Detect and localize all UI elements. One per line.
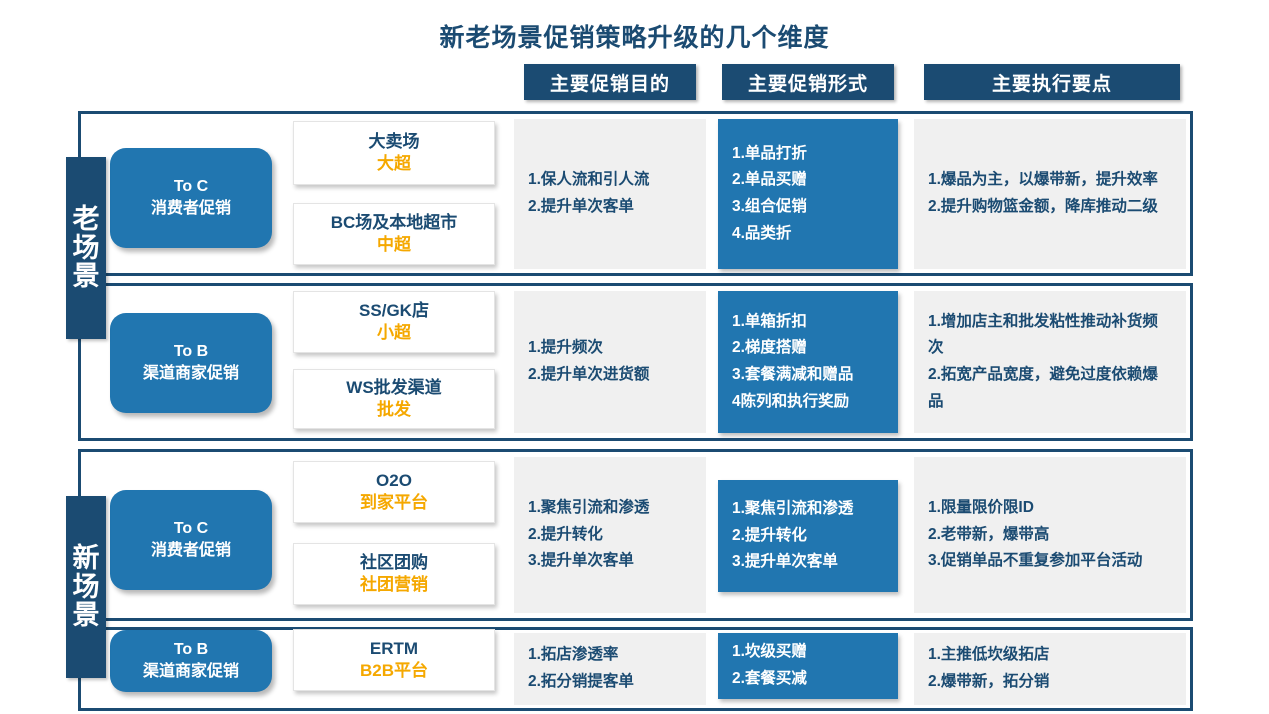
cell-line: 1.保人流和引人流 — [528, 167, 692, 194]
channel-title-3a: O2O — [376, 470, 412, 492]
segment-pill-row-1[interactable]: To C 消费者促销 — [110, 148, 272, 248]
scene-label-new-char-1: 场 — [73, 573, 100, 602]
channel-subtitle-1b: 中超 — [377, 234, 411, 256]
segment-pill-row-3[interactable]: To C 消费者促销 — [110, 490, 272, 590]
cell-line: 4陈列和执行奖励 — [732, 389, 884, 416]
segment-pill-row-4[interactable]: To B 渠道商家促销 — [110, 630, 272, 692]
cell-line: 3.提升单次客单 — [528, 548, 692, 575]
cell-form-row-1: 1.单品打折 2.单品买赠 3.组合促销 4.品类折 — [718, 119, 898, 269]
cell-line: 1.单箱折扣 — [732, 309, 884, 336]
channel-title-1a: 大卖场 — [369, 131, 420, 153]
cell-line: 2.爆带新，拓分销 — [928, 669, 1172, 696]
scene-label-old-char-1: 场 — [73, 234, 100, 263]
scene-label-new-char-2: 景 — [73, 601, 100, 630]
cell-line: 1.单品打折 — [732, 141, 884, 168]
column-header-purpose: 主要促销目的 — [524, 64, 696, 100]
cell-purpose-row-4: 1.拓店渗透率 2.拓分销提客单 — [514, 633, 706, 705]
cell-form-row-3: 1.聚焦引流和渗透 2.提升转化 3.提升单次客单 — [718, 480, 898, 592]
scene-label-old-char-2: 景 — [73, 262, 100, 291]
segment-cn-4: 渠道商家促销 — [143, 661, 239, 683]
scene-label-new: 新 场 景 — [66, 496, 106, 678]
channel-card-2a[interactable]: SS/GK店 小超 — [293, 291, 495, 353]
column-header-exec: 主要执行要点 — [924, 64, 1180, 100]
channel-card-4a[interactable]: ERTM B2B平台 — [293, 629, 495, 691]
cell-form-row-2: 1.单箱折扣 2.梯度搭赠 3.套餐满减和赠品 4陈列和执行奖励 — [718, 291, 898, 433]
cell-line: 1.限量限价限ID — [928, 495, 1172, 522]
cell-line: 1.聚焦引流和渗透 — [528, 495, 692, 522]
cell-line: 1.增加店主和批发粘性推动补货频次 — [928, 309, 1172, 362]
segment-en-4: To B — [174, 639, 208, 661]
cell-line: 2.提升购物篮金额，降库推动二级 — [928, 194, 1172, 221]
cell-exec-row-2: 1.增加店主和批发粘性推动补货频次 2.拓宽产品宽度，避免过度依赖爆品 — [914, 291, 1186, 433]
segment-en-3: To C — [174, 518, 208, 540]
cell-line: 2.提升转化 — [528, 522, 692, 549]
channel-card-1a[interactable]: 大卖场 大超 — [293, 121, 495, 185]
segment-cn-1: 消费者促销 — [151, 198, 231, 220]
channel-card-3b[interactable]: 社区团购 社团营销 — [293, 543, 495, 605]
cell-purpose-row-1: 1.保人流和引人流 2.提升单次客单 — [514, 119, 706, 269]
channel-card-3a[interactable]: O2O 到家平台 — [293, 461, 495, 523]
channel-subtitle-4a: B2B平台 — [360, 660, 428, 682]
scene-label-new-char-0: 新 — [73, 544, 100, 573]
cell-line: 2.提升单次进货额 — [528, 362, 692, 389]
cell-line: 2.拓宽产品宽度，避免过度依赖爆品 — [928, 362, 1172, 415]
segment-cn-2: 渠道商家促销 — [143, 363, 239, 385]
cell-line: 2.拓分销提客单 — [528, 669, 692, 696]
column-header-form: 主要促销形式 — [722, 64, 894, 100]
cell-line: 1.爆品为主，以爆带新，提升效率 — [928, 167, 1172, 194]
channel-subtitle-3b: 社团营销 — [360, 574, 428, 596]
channel-subtitle-3a: 到家平台 — [360, 492, 428, 514]
cell-exec-row-4: 1.主推低坎级拓店 2.爆带新，拓分销 — [914, 633, 1186, 705]
cell-line: 3.促销单品不重复参加平台活动 — [928, 548, 1172, 575]
channel-title-4a: ERTM — [370, 638, 418, 660]
cell-line: 2.提升转化 — [732, 523, 884, 550]
segment-en-1: To C — [174, 176, 208, 198]
channel-title-2a: SS/GK店 — [359, 300, 429, 322]
cell-line: 2.老带新，爆带高 — [928, 522, 1172, 549]
cell-exec-row-1: 1.爆品为主，以爆带新，提升效率 2.提升购物篮金额，降库推动二级 — [914, 119, 1186, 269]
cell-line: 2.提升单次客单 — [528, 194, 692, 221]
channel-subtitle-2b: 批发 — [377, 399, 411, 421]
cell-line: 3.套餐满减和赠品 — [732, 362, 884, 389]
cell-form-row-4: 1.坎级买赠 2.套餐买减 — [718, 633, 898, 699]
channel-subtitle-2a: 小超 — [377, 322, 411, 344]
cell-purpose-row-2: 1.提升频次 2.提升单次进货额 — [514, 291, 706, 433]
scene-label-old: 老 场 景 — [66, 157, 106, 339]
cell-line: 3.组合促销 — [732, 194, 884, 221]
cell-line: 2.套餐买减 — [732, 666, 884, 693]
segment-en-2: To B — [174, 341, 208, 363]
page-title: 新老场景促销策略升级的几个维度 — [0, 18, 1269, 54]
cell-line: 2.梯度搭赠 — [732, 335, 884, 362]
cell-line: 1.提升频次 — [528, 335, 692, 362]
cell-exec-row-3: 1.限量限价限ID 2.老带新，爆带高 3.促销单品不重复参加平台活动 — [914, 457, 1186, 613]
cell-line: 1.主推低坎级拓店 — [928, 642, 1172, 669]
segment-cn-3: 消费者促销 — [151, 540, 231, 562]
cell-line: 3.提升单次客单 — [732, 549, 884, 576]
channel-title-1b: BC场及本地超市 — [331, 212, 458, 234]
cell-line: 1.坎级买赠 — [732, 639, 884, 666]
cell-line: 2.单品买赠 — [732, 167, 884, 194]
cell-line: 1.拓店渗透率 — [528, 642, 692, 669]
channel-card-2b[interactable]: WS批发渠道 批发 — [293, 369, 495, 429]
cell-purpose-row-3: 1.聚焦引流和渗透 2.提升转化 3.提升单次客单 — [514, 457, 706, 613]
cell-line: 1.聚焦引流和渗透 — [732, 496, 884, 523]
scene-label-old-char-0: 老 — [73, 205, 100, 234]
segment-pill-row-2[interactable]: To B 渠道商家促销 — [110, 313, 272, 413]
channel-card-1b[interactable]: BC场及本地超市 中超 — [293, 203, 495, 265]
cell-line: 4.品类折 — [732, 221, 884, 248]
channel-subtitle-1a: 大超 — [377, 153, 411, 175]
channel-title-2b: WS批发渠道 — [346, 377, 441, 399]
channel-title-3b: 社区团购 — [360, 552, 428, 574]
